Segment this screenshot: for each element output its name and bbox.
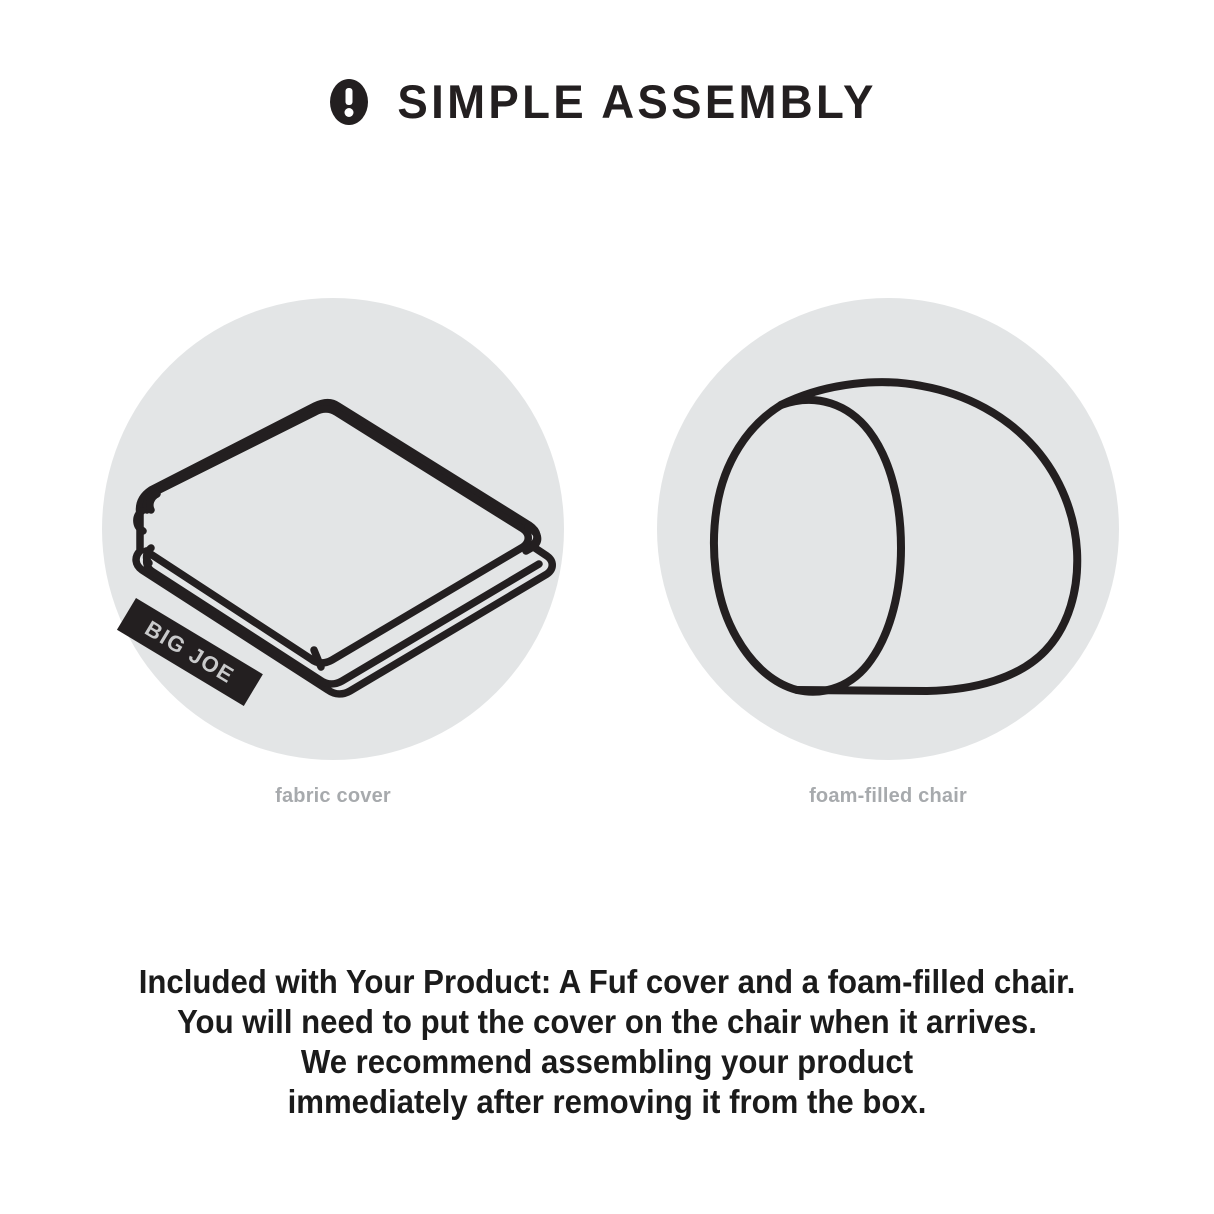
illustration-fabric-cover: BIG JOE fabric cover (102, 298, 568, 838)
exclamation-stem (345, 88, 352, 105)
body-copy-line-2: You will need to put the cover on the ch… (42, 1003, 1171, 1043)
body-copy-line-1: Included with Your Product: A Fuf cover … (42, 963, 1171, 1003)
exclamation-dot (344, 108, 353, 117)
foam-filled-chair-icon (657, 298, 1123, 764)
caption-fabric-cover: fabric cover (102, 785, 564, 808)
caption-foam-filled-chair: foam-filled chair (657, 785, 1119, 808)
page-title: SIMPLE ASSEMBLY (397, 78, 876, 125)
folded-fabric-cover-icon: BIG JOE (102, 298, 568, 764)
alert-exclamation-icon (330, 79, 368, 125)
illustration-row: BIG JOE fabric cover foam-filled chair (0, 298, 1214, 838)
page-header: SIMPLE ASSEMBLY (0, 78, 1214, 125)
body-copy-line-3: We recommend assembling your product (42, 1043, 1171, 1083)
body-copy: Included with Your Product: A Fuf cover … (0, 963, 1214, 1123)
body-copy-line-4: immediately after removing it from the b… (42, 1083, 1171, 1123)
illustration-foam-filled-chair: foam-filled chair (657, 298, 1123, 838)
